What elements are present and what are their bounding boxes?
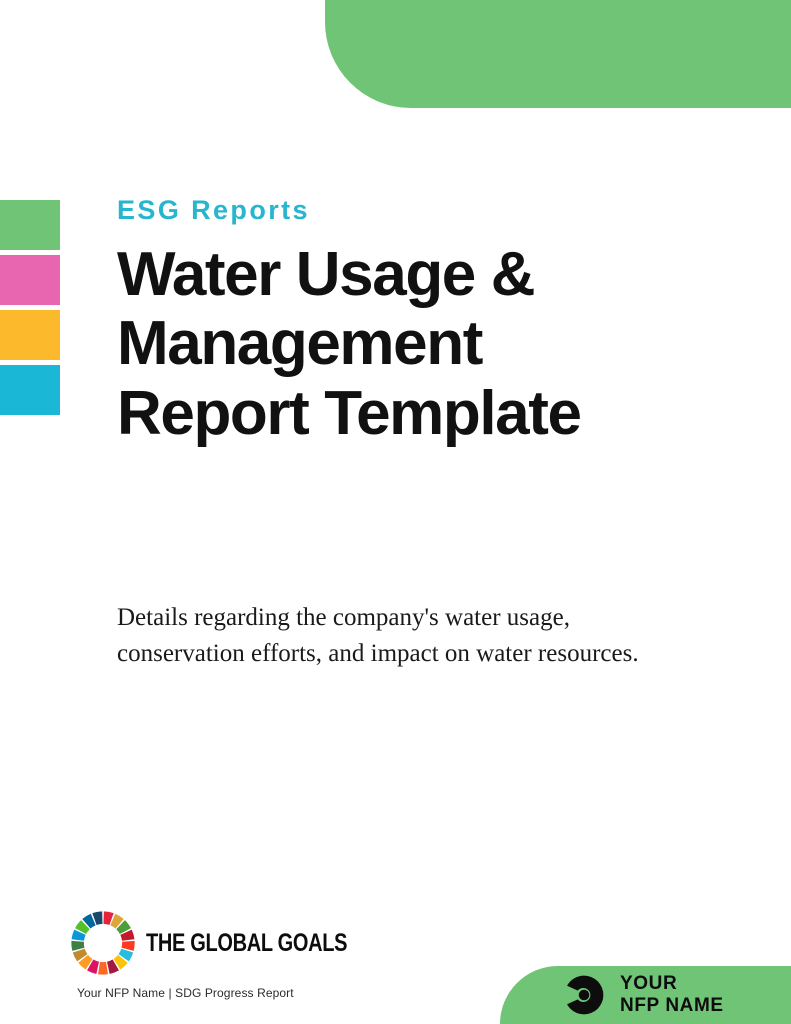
title-line-1: Water Usage &: [117, 240, 727, 309]
global-goals-caption: Your NFP Name | SDG Progress Report: [77, 986, 370, 1000]
nfp-name-badge: YOUR NFP NAME: [500, 966, 791, 1024]
title-line-2: Management: [117, 309, 727, 378]
cover-heading-block: ESG Reports Water Usage & Management Rep…: [117, 196, 727, 448]
color-bar-green: [0, 200, 60, 250]
eyebrow-label: ESG Reports: [117, 196, 727, 226]
report-cover-page: ESG Reports Water Usage & Management Rep…: [0, 0, 791, 1024]
global-goals-lockup: THE GLOBAL GOALS Your NFP Name | SDG Pro…: [70, 908, 370, 1000]
page-title: Water Usage & Management Report Template: [117, 240, 727, 448]
ring-dot-logo-icon: [562, 973, 606, 1017]
color-bar-amber: [0, 310, 60, 360]
top-green-decor-shape: [325, 0, 791, 108]
sdg-color-wheel-icon: [70, 910, 136, 976]
global-goals-row: THE GLOBAL GOALS: [70, 908, 370, 978]
nfp-name-line-2: NFP NAME: [620, 995, 724, 1017]
color-bar-pink: [0, 255, 60, 305]
cover-description: Details regarding the company's water us…: [117, 600, 697, 671]
color-swatch-bars: [0, 200, 60, 420]
nfp-name-text: YOUR NFP NAME: [620, 973, 724, 1017]
global-goals-wordmark: THE GLOBAL GOALS: [146, 931, 347, 956]
title-line-3: Report Template: [117, 379, 727, 448]
color-bar-cyan: [0, 365, 60, 415]
nfp-name-line-1: YOUR: [620, 973, 724, 995]
